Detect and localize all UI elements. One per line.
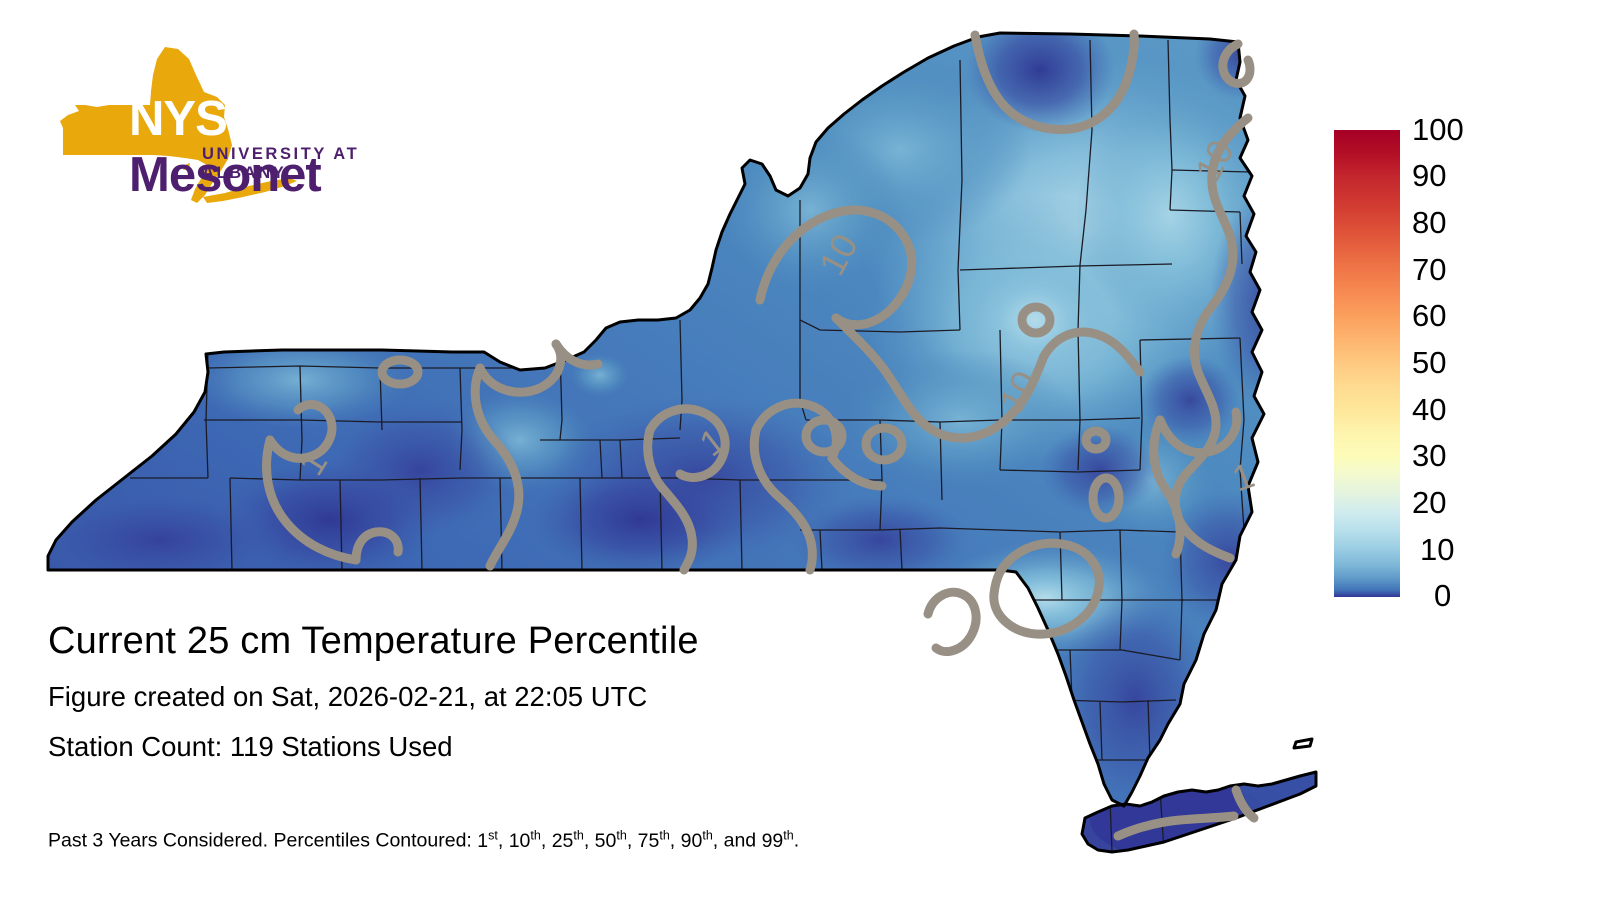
footnote-ordinal-suffix: th <box>783 828 793 842</box>
footnote-ordinal-suffix: th <box>702 828 712 842</box>
colorbar-tick-70: 70 <box>1412 254 1446 285</box>
colorbar-tick-80: 80 <box>1412 207 1446 238</box>
footnote-ordinals: 1st, 10th, 25th, 50th, 75th, 90th, and 9… <box>477 830 799 852</box>
footnote-ordinal: 10th <box>509 830 541 852</box>
figure-title: Current 25 cm Temperature Percentile <box>48 620 1098 663</box>
footnote-ordinal: 75th <box>638 830 670 852</box>
colorbar-tick-50: 50 <box>1412 347 1446 378</box>
new-york-percentile-map: 10 10 10 1 1 1 <box>0 0 1320 900</box>
figure-canvas: NYS Mesonet UNIVERSITY AT ALBANY <box>0 0 1600 900</box>
footnote-ordinal: 50th <box>595 830 627 852</box>
colorbar-tick-60: 60 <box>1412 300 1446 331</box>
footnote-ordinal: 99th <box>762 830 794 852</box>
colorbar-tick-90: 90 <box>1412 160 1446 191</box>
footnote-ordinal-suffix: th <box>573 828 583 842</box>
footnote-ordinal-suffix: th <box>659 828 669 842</box>
footnote-ordinal: 1st <box>477 830 498 852</box>
footnote-ordinal: 90th <box>681 830 713 852</box>
colorbar-tick-labels: 100 90 80 70 60 50 40 30 20 10 0 <box>1412 130 1532 597</box>
colorbar-tick-0: 0 <box>1434 580 1451 611</box>
percentile-field-mainland <box>0 0 1320 900</box>
colorbar-tick-30: 30 <box>1412 440 1446 471</box>
colorbar-tick-40: 40 <box>1412 394 1446 425</box>
colorbar-tick-10: 10 <box>1420 534 1454 565</box>
colorbar-tick-100: 100 <box>1412 114 1464 145</box>
colorbar-tick-20: 20 <box>1412 487 1446 518</box>
colorbar-gradient <box>1334 130 1400 597</box>
caption-block: Current 25 cm Temperature Percentile Fig… <box>48 620 1098 763</box>
footnote-ordinal-suffix: th <box>530 828 540 842</box>
footnote-ordinal: 25th <box>552 830 584 852</box>
contour-levels-footnote: Past 3 Years Considered. Percentiles Con… <box>48 828 799 853</box>
colorbar <box>1334 130 1400 597</box>
station-count-line: Station Count: 119 Stations Used <box>48 731 1098 763</box>
footnote-ordinal-suffix: th <box>616 828 626 842</box>
figure-created-line: Figure created on Sat, 2026-02-21, at 22… <box>48 681 1098 713</box>
footnote-prefix: Past 3 Years Considered. Percentiles Con… <box>48 830 477 852</box>
footnote-ordinal-suffix: st <box>488 828 498 842</box>
